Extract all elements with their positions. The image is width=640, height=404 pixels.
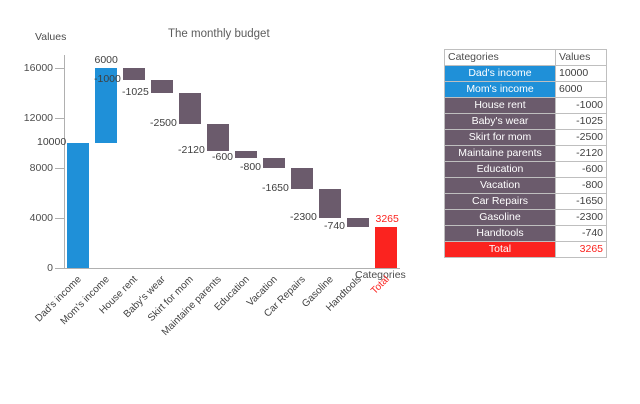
budget-table-container: Categories Values Dad's income10000Mom's… (444, 49, 594, 258)
bar-gasoline[interactable] (319, 189, 341, 218)
table-cell-value: 6000 (556, 82, 607, 98)
y-tick-mark (55, 118, 64, 119)
bar-label: 3265 (376, 213, 399, 225)
table-cell-value: -800 (556, 178, 607, 194)
table-cell-value: -740 (556, 226, 607, 242)
table-cell-category: Dad's income (445, 66, 556, 82)
header-categories: Categories (445, 50, 556, 66)
waterfall-chart: The monthly budget Values Categories 040… (0, 0, 430, 404)
table-row[interactable]: Handtools-740 (445, 226, 607, 242)
table-cell-category: Vacation (445, 178, 556, 194)
bar-total[interactable] (375, 227, 397, 268)
table-cell-value: -1650 (556, 194, 607, 210)
plot-area: 100006000-1000-1025-2500-2120-600-800-16… (64, 55, 400, 268)
y-axis-label: Values (35, 31, 66, 43)
table-row[interactable]: Vacation-800 (445, 178, 607, 194)
budget-table: Categories Values Dad's income10000Mom's… (444, 49, 607, 258)
bar-label: 10000 (37, 136, 66, 148)
table-cell-category: Maintaine parents (445, 146, 556, 162)
table-row[interactable]: Mom's income6000 (445, 82, 607, 98)
bar-label: -1025 (122, 86, 149, 98)
bar-vacation[interactable] (263, 158, 285, 168)
table-row[interactable]: Baby's wear-1025 (445, 114, 607, 130)
table-cell-value: 3265 (556, 242, 607, 258)
table-row[interactable]: Skirt for mom-2500 (445, 130, 607, 146)
table-header-row: Categories Values (445, 50, 607, 66)
table-row[interactable]: Gasoline-2300 (445, 210, 607, 226)
table-cell-category: Gasoline (445, 210, 556, 226)
table-cell-category: Car Repairs (445, 194, 556, 210)
table-row[interactable]: Total3265 (445, 242, 607, 258)
header-values: Values (556, 50, 607, 66)
bar-maintaine-parents[interactable] (207, 124, 229, 151)
table-cell-value: -1000 (556, 98, 607, 114)
bar-label: -740 (324, 220, 345, 232)
y-tick-label: 0 (47, 262, 53, 274)
bar-label: -2120 (178, 144, 205, 156)
table-cell-category: House rent (445, 98, 556, 114)
table-cell-value: -1025 (556, 114, 607, 130)
bar-label: -1650 (262, 182, 289, 194)
bar-house-rent[interactable] (123, 68, 145, 81)
x-axis-line (64, 268, 400, 269)
y-tick-mark (55, 68, 64, 69)
y-tick-label: 12000 (24, 112, 53, 124)
bar-label: -800 (240, 161, 261, 173)
y-tick-label: 16000 (24, 62, 53, 74)
bar-handtools[interactable] (347, 218, 369, 227)
table-cell-category: Total (445, 242, 556, 258)
bar-skirt-for-mom[interactable] (179, 93, 201, 124)
bar-label: -1000 (94, 73, 121, 85)
y-tick-mark (55, 168, 64, 169)
y-tick-label: 8000 (30, 162, 53, 174)
bar-label: 6000 (95, 54, 118, 66)
table-cell-category: Handtools (445, 226, 556, 242)
bar-education[interactable] (235, 151, 257, 159)
y-tick-mark (55, 218, 64, 219)
y-tick-mark (55, 268, 64, 269)
page-root: The monthly budget Values Categories 040… (0, 0, 640, 404)
table-row[interactable]: House rent-1000 (445, 98, 607, 114)
table-cell-category: Skirt for mom (445, 130, 556, 146)
bar-dad-s-income[interactable] (67, 143, 89, 268)
y-tick-label: 4000 (30, 212, 53, 224)
table-cell-value: -2120 (556, 146, 607, 162)
table-cell-category: Education (445, 162, 556, 178)
table-cell-value: -2500 (556, 130, 607, 146)
table-row[interactable]: Education-600 (445, 162, 607, 178)
table-cell-category: Baby's wear (445, 114, 556, 130)
table-row[interactable]: Maintaine parents-2120 (445, 146, 607, 162)
bar-car-repairs[interactable] (291, 168, 313, 189)
bar-label: -600 (212, 151, 233, 163)
table-row[interactable]: Dad's income10000 (445, 66, 607, 82)
table-cell-value: -2300 (556, 210, 607, 226)
table-row[interactable]: Car Repairs-1650 (445, 194, 607, 210)
bar-label: -2500 (150, 117, 177, 129)
table-cell-value: 10000 (556, 66, 607, 82)
table-cell-value: -600 (556, 162, 607, 178)
bar-baby-s-wear[interactable] (151, 80, 173, 93)
table-body: Dad's income10000Mom's income6000House r… (445, 66, 607, 258)
bar-label: -2300 (290, 211, 317, 223)
chart-title: The monthly budget (168, 28, 270, 40)
table-cell-category: Mom's income (445, 82, 556, 98)
